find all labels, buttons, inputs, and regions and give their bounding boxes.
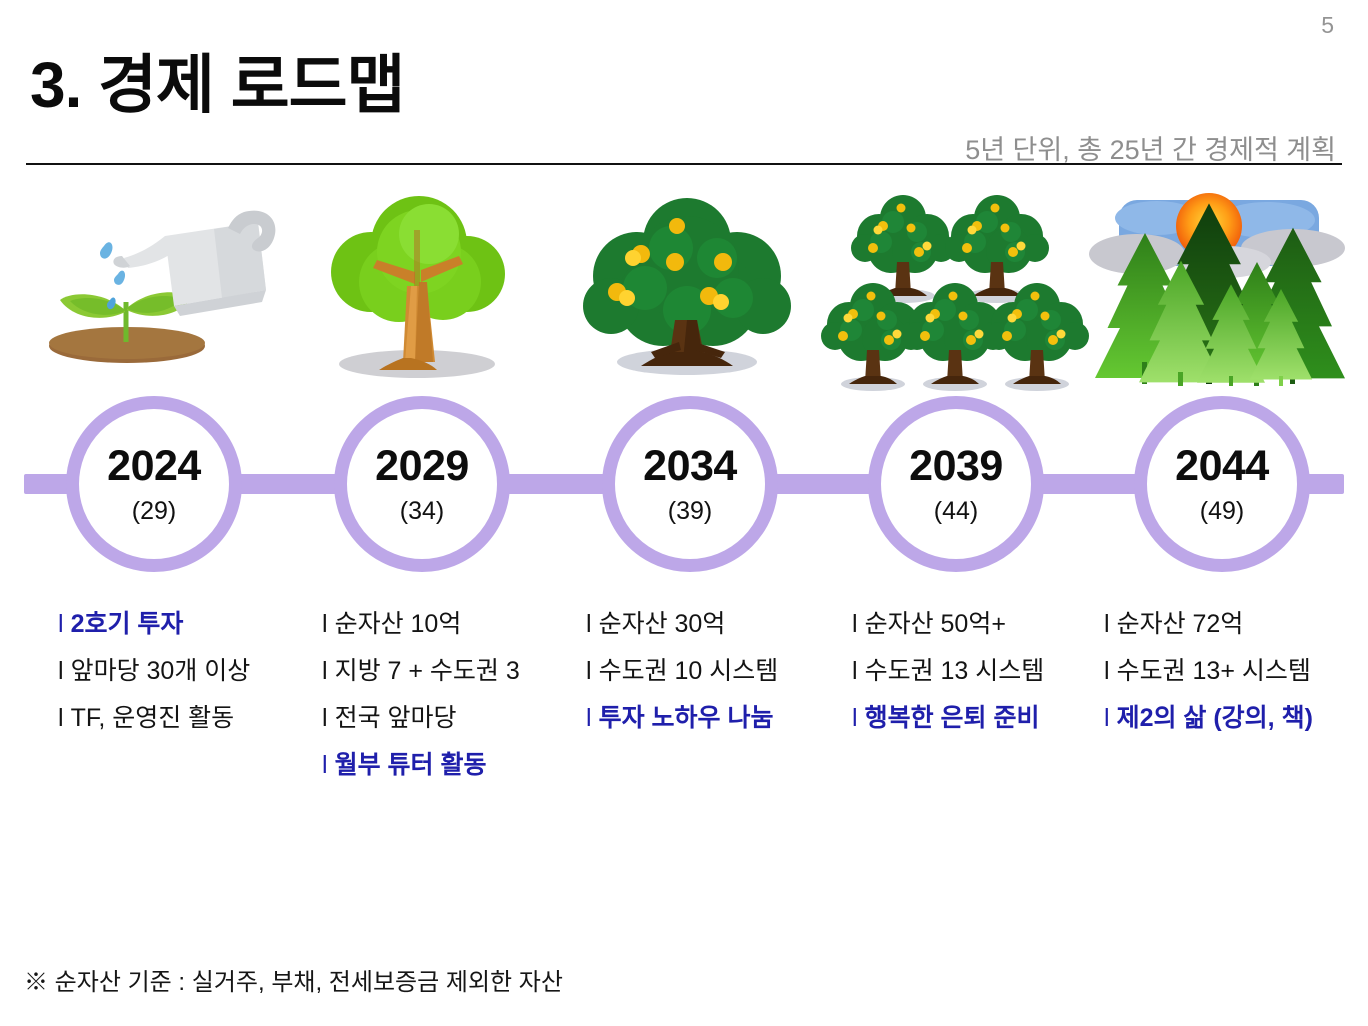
- timeline-node-2029[interactable]: 2029 (34): [334, 396, 510, 572]
- icon-slot-2024: [20, 186, 288, 386]
- bullet-mark: l: [322, 612, 328, 637]
- bullet-mark: l: [852, 706, 858, 731]
- list-item-label: 투자 노하우 나눔: [599, 704, 774, 732]
- icon-slot-2039: [822, 186, 1090, 386]
- list-item: lTF, 운영진 활동: [58, 706, 320, 731]
- timeline-node-age: (49): [1200, 499, 1244, 524]
- timeline-node-year: 2039: [909, 445, 1003, 488]
- page-title: 3. 경제 로드맵: [30, 52, 404, 119]
- list-item: l순자산 72억: [1104, 612, 1366, 637]
- timeline-node-age: (34): [400, 499, 444, 524]
- page-subtitle: 5년 단위, 총 25년 간 경제적 계획: [965, 128, 1336, 167]
- sprout-watering-can-icon: [22, 190, 286, 386]
- list-item: l수도권 13+ 시스템: [1104, 659, 1366, 684]
- list-item-label: 지방 7 + 수도권 3: [335, 657, 520, 685]
- bullet-mark: l: [586, 612, 592, 637]
- list-item-label: 제2의 삶 (강의, 책): [1117, 704, 1313, 732]
- bullet-mark: l: [1104, 659, 1110, 684]
- bullet-mark: l: [586, 706, 592, 731]
- milestone-column-2024: l2호기 투자 l앞마당 30개 이상 lTF, 운영진 활동: [58, 612, 320, 753]
- timeline: 2024 (29) 2029 (34) 2034 (39) 2039 (44) …: [0, 396, 1368, 572]
- bullet-mark: l: [58, 612, 64, 637]
- milestone-column-2039: l순자산 50억+ l수도권 13 시스템 l행복한 은퇴 준비: [852, 612, 1114, 753]
- list-item-label: 행복한 은퇴 준비: [865, 704, 1040, 732]
- bullet-mark: l: [1104, 612, 1110, 637]
- icon-slot-2034: [556, 186, 824, 386]
- timeline-node-2044[interactable]: 2044 (49): [1134, 396, 1310, 572]
- timeline-node-year: 2024: [107, 445, 201, 488]
- timeline-node-year: 2034: [643, 445, 737, 488]
- timeline-node-2034[interactable]: 2034 (39): [602, 396, 778, 572]
- list-item-label: 순자산 10억: [335, 610, 462, 638]
- list-item: l지방 7 + 수도권 3: [322, 659, 584, 684]
- timeline-node-age: (44): [934, 499, 978, 524]
- bullet-mark: l: [322, 706, 328, 731]
- stage-icons-row: [0, 186, 1368, 386]
- timeline-node-2039[interactable]: 2039 (44): [868, 396, 1044, 572]
- young-tree-icon: [307, 190, 537, 386]
- bullet-mark: l: [586, 659, 592, 684]
- page-number: 5: [1321, 14, 1334, 37]
- list-item: l2호기 투자: [58, 612, 320, 637]
- list-item-label: 앞마당 30개 이상: [71, 657, 251, 685]
- list-item-label: 수도권 10 시스템: [599, 657, 779, 685]
- list-item-label: 수도권 13+ 시스템: [1117, 657, 1311, 685]
- timeline-node-age: (39): [668, 499, 712, 524]
- timeline-node-year: 2044: [1175, 445, 1269, 488]
- milestone-column-2044: l순자산 72억 l수도권 13+ 시스템 l제2의 삶 (강의, 책): [1104, 612, 1366, 753]
- list-item-label: 수도권 13 시스템: [865, 657, 1045, 685]
- bullet-mark: l: [58, 659, 64, 684]
- list-item: l수도권 10 시스템: [586, 659, 848, 684]
- icon-slot-2029: [288, 186, 556, 386]
- bullet-mark: l: [322, 753, 328, 778]
- milestone-column-2029: l순자산 10억 l지방 7 + 수도권 3 l전국 앞마당 l월부 튜터 활동: [322, 612, 584, 800]
- list-item-label: 순자산 30억: [599, 610, 726, 638]
- slide-canvas: 5 3. 경제 로드맵 5년 단위, 총 25년 간 경제적 계획: [0, 0, 1368, 1026]
- list-item: l투자 노하우 나눔: [586, 706, 848, 731]
- list-item: l순자산 30억: [586, 612, 848, 637]
- list-item: l순자산 10억: [322, 612, 584, 637]
- orchard-five-trees-icon: [831, 190, 1081, 386]
- list-item: l순자산 50억+: [852, 612, 1114, 637]
- fruit-tree-icon: [575, 190, 805, 386]
- list-item: l수도권 13 시스템: [852, 659, 1114, 684]
- bullet-mark: l: [852, 659, 858, 684]
- list-item-label: TF, 운영진 활동: [71, 704, 235, 732]
- list-item: l앞마당 30개 이상: [58, 659, 320, 684]
- footnote: ※ 순자산 기준 : 실거주, 부채, 전세보증금 제외한 자산: [24, 962, 563, 997]
- bullet-mark: l: [852, 612, 858, 637]
- list-item-label: 전국 앞마당: [335, 704, 457, 732]
- list-item-label: 2호기 투자: [71, 610, 184, 638]
- milestone-columns: l2호기 투자 l앞마당 30개 이상 lTF, 운영진 활동 l순자산 10억…: [0, 612, 1368, 842]
- list-item: l월부 튜터 활동: [322, 753, 584, 778]
- timeline-node-2024[interactable]: 2024 (29): [66, 396, 242, 572]
- bullet-mark: l: [1104, 706, 1110, 731]
- bullet-mark: l: [322, 659, 328, 684]
- list-item-label: 순자산 72억: [1117, 610, 1244, 638]
- icon-slot-2044: [1088, 186, 1356, 386]
- header-divider: [26, 163, 1342, 165]
- bullet-mark: l: [58, 706, 64, 731]
- timeline-node-year: 2029: [375, 445, 469, 488]
- list-item: l행복한 은퇴 준비: [852, 706, 1114, 731]
- list-item: l제2의 삶 (강의, 책): [1104, 706, 1366, 731]
- list-item-label: 월부 튜터 활동: [335, 751, 487, 779]
- pine-forest-sunrise-icon: [1097, 190, 1347, 386]
- timeline-node-age: (29): [132, 499, 176, 524]
- list-item: l전국 앞마당: [322, 706, 584, 731]
- milestone-column-2034: l순자산 30억 l수도권 10 시스템 l투자 노하우 나눔: [586, 612, 848, 753]
- list-item-label: 순자산 50억+: [865, 610, 1006, 638]
